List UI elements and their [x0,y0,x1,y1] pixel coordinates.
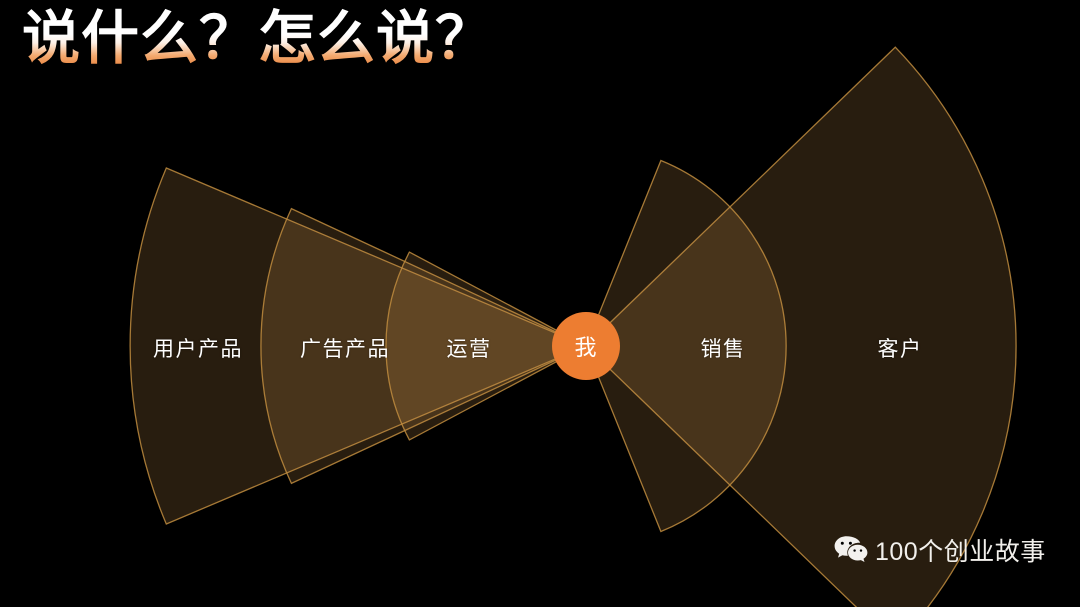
sector-label-sales: 销售 [701,333,746,363]
watermark-text: 100个创业故事 [875,532,1046,568]
sector-label-customer: 客户 [878,333,923,363]
sector-label-user-product: 用户产品 [153,333,243,363]
sector-label-ad-product: 广告产品 [300,333,390,363]
right-sector-group [586,47,1016,607]
sector-label-operations: 运营 [447,333,492,363]
watermark: 100个创业故事 [834,532,1046,568]
slide-canvas: 说什么？怎么说？ 用户产品 广告产品 运营 销售 客户 我 [0,0,1080,607]
wechat-icon [834,535,868,565]
radial-sector-diagram [0,0,1080,607]
hub-label: 我 [574,330,597,362]
